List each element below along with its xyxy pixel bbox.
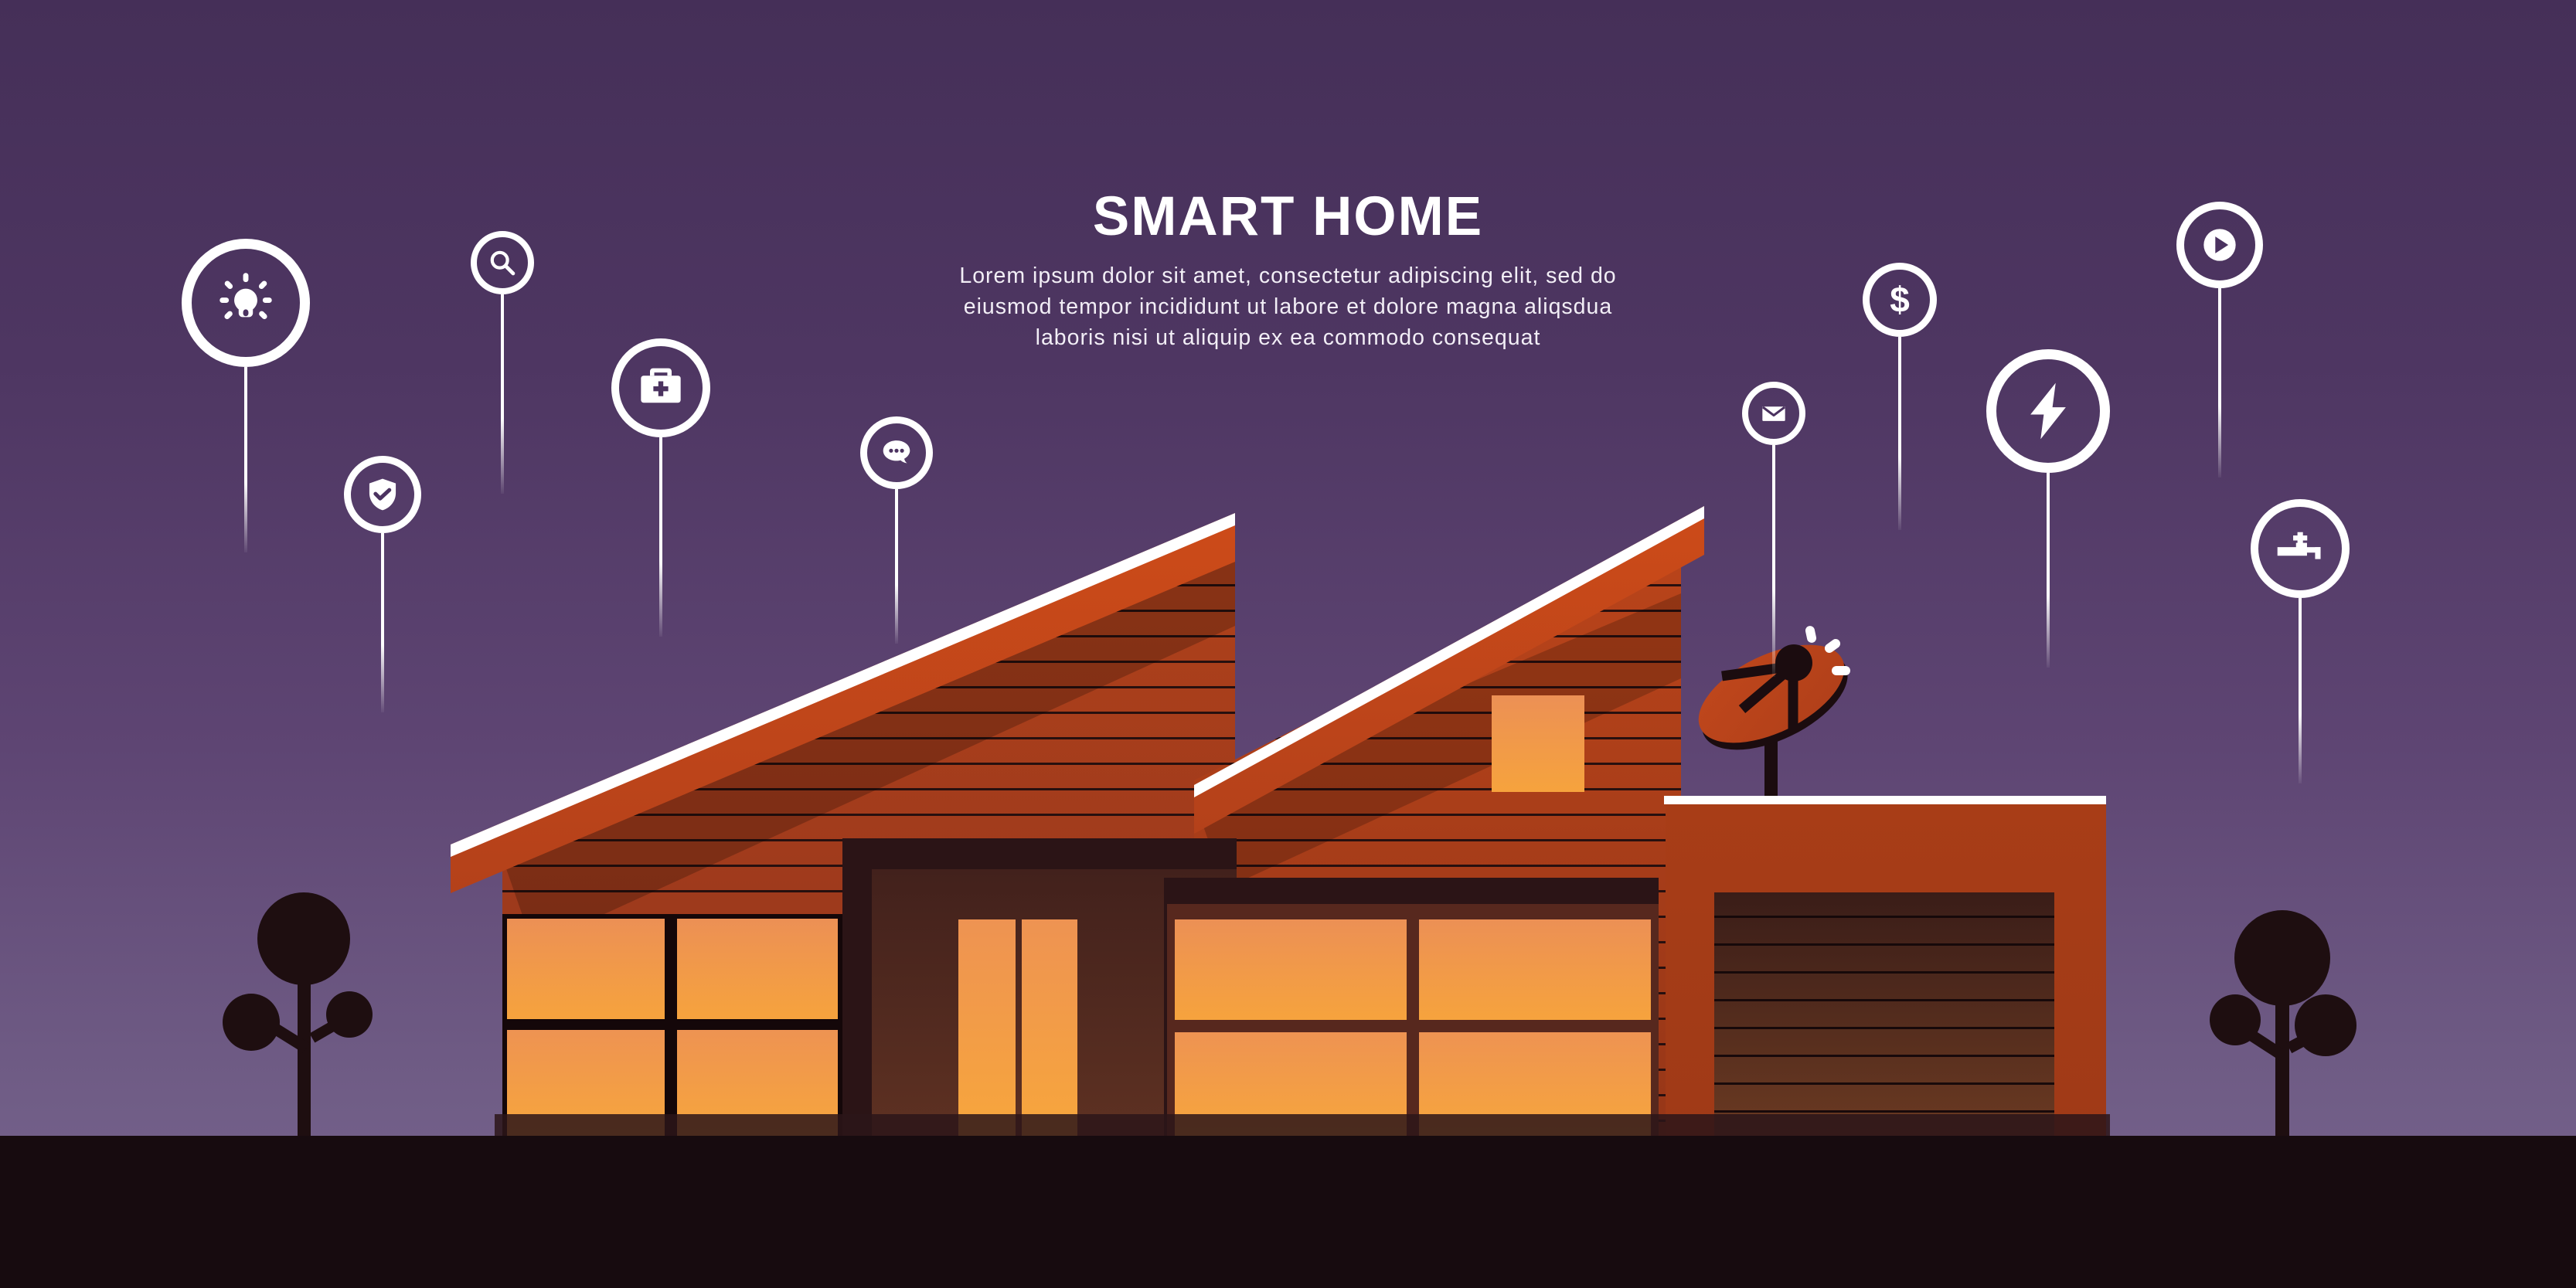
lightning-bolt-icon xyxy=(2013,376,2083,446)
pin-search[interactable] xyxy=(471,231,534,294)
pin-ring xyxy=(1742,382,1805,445)
pin-bolt[interactable] xyxy=(1986,349,2110,473)
pin-stem xyxy=(659,437,662,637)
pin-ring xyxy=(344,456,421,533)
pin-ring xyxy=(2176,202,2263,288)
pin-shield[interactable] xyxy=(344,456,421,533)
entry-door-panel-right xyxy=(1022,919,1077,1136)
pin-stem xyxy=(1772,445,1775,677)
pin-chat[interactable] xyxy=(860,416,933,489)
search-icon xyxy=(485,246,519,280)
pin-medkit[interactable] xyxy=(611,338,710,437)
pin-ring xyxy=(471,231,534,294)
pin-ring xyxy=(1986,349,2110,473)
pin-stem xyxy=(2047,473,2050,668)
play-circle-icon xyxy=(2196,221,2244,269)
first-aid-kit-icon xyxy=(634,361,688,415)
entry-door-panel-left xyxy=(958,919,1016,1136)
pin-ring xyxy=(2251,499,2350,598)
pin-stem xyxy=(381,533,384,712)
pin-stem xyxy=(501,294,504,494)
pin-stem xyxy=(895,489,898,644)
tree-left xyxy=(223,892,373,1140)
pin-play[interactable] xyxy=(2176,202,2263,288)
faucet-icon xyxy=(2271,520,2329,577)
shield-check-icon xyxy=(363,475,402,514)
pin-stem xyxy=(2299,598,2302,783)
pin-faucet[interactable] xyxy=(2251,499,2350,598)
chat-bubble-icon xyxy=(877,433,916,472)
garage xyxy=(1664,796,2106,1136)
pin-mail[interactable] xyxy=(1742,382,1805,445)
svg-text:$: $ xyxy=(1890,279,1910,319)
pin-dollar[interactable]: $ xyxy=(1863,263,1937,337)
page-subtitle: Lorem ipsum dolor sit amet, consectetur … xyxy=(948,260,1628,353)
pin-ring: $ xyxy=(1863,263,1937,337)
dollar-sign-icon: $ xyxy=(1877,277,1922,322)
right-window-grid xyxy=(1164,878,1659,1136)
pin-lightbulb[interactable] xyxy=(182,239,310,367)
pin-ring xyxy=(860,416,933,489)
left-window-grid xyxy=(502,914,842,1137)
garage-door xyxy=(1714,892,2054,1136)
lightbulb-icon xyxy=(210,267,281,338)
pin-stem xyxy=(2218,288,2221,477)
tree-right xyxy=(2210,910,2357,1140)
smart-home-illustration: SMART HOME Lorem ipsum dolor sit amet, c… xyxy=(0,0,2576,1288)
gable-window xyxy=(1492,695,1584,792)
garage-roof-edge xyxy=(1664,796,2106,804)
envelope-icon xyxy=(1757,396,1791,430)
pin-ring xyxy=(182,239,310,367)
pin-stem xyxy=(1898,337,1901,530)
ground xyxy=(0,1136,2576,1288)
pin-stem xyxy=(244,367,247,552)
pin-ring xyxy=(611,338,710,437)
